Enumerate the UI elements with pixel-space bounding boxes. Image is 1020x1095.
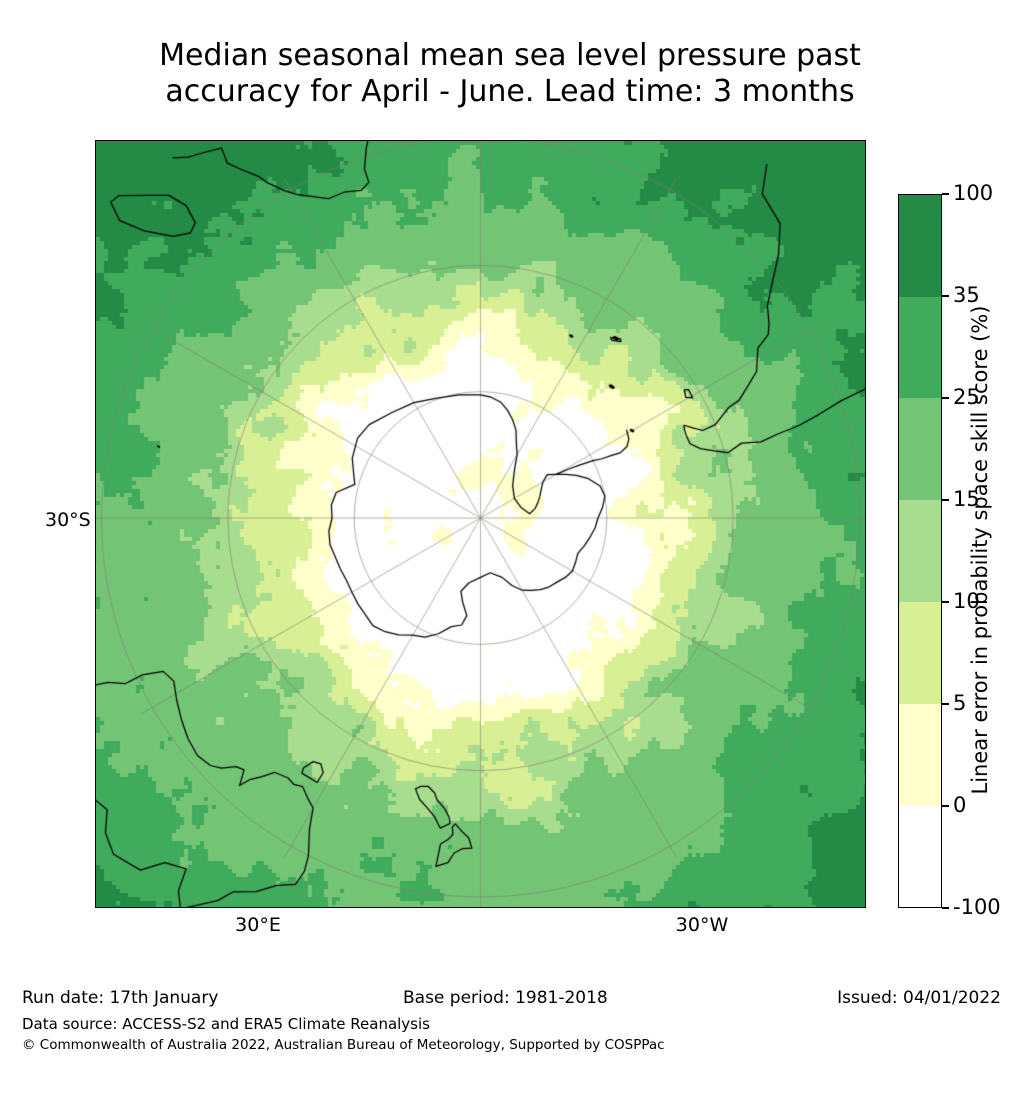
xtick-label-30e: 30°E xyxy=(213,914,303,936)
colorbar-tick-label: 5 xyxy=(953,690,966,717)
figure-root: Median seasonal mean sea level pressure … xyxy=(0,0,1020,1095)
colorbar-band xyxy=(899,297,941,399)
colorbar-band xyxy=(899,704,941,806)
footer-run-date: Run date: 17th January xyxy=(22,988,218,1008)
map-plot-area[interactable] xyxy=(95,140,866,908)
footer-issued-date: Issued: 04/01/2022 xyxy=(837,988,1001,1008)
skill-score-map-canvas[interactable] xyxy=(96,141,865,907)
colorbar-axis-label-text: Linear error in probability space skill … xyxy=(968,190,992,910)
page-title: Median seasonal mean sea level pressure … xyxy=(0,38,1020,110)
colorbar-tickmark xyxy=(942,295,949,297)
footer-copyright: © Commonwealth of Australia 2022, Austra… xyxy=(22,1037,665,1053)
colorbar-band xyxy=(899,398,941,500)
colorbar-tickmark xyxy=(942,397,949,399)
colorbar-band xyxy=(899,195,941,297)
colorbar-tickmark xyxy=(942,907,949,909)
ytick-label-30s: 30°S xyxy=(45,509,87,531)
colorbar-band xyxy=(899,805,941,907)
colorbar-tickmark xyxy=(942,601,949,603)
colorbar-tickmark xyxy=(942,193,949,195)
colorbar-band xyxy=(899,602,941,704)
xtick-label-30w: 30°W xyxy=(657,914,747,936)
colorbar: 1003525151050-100 xyxy=(898,194,942,908)
colorbar-bands xyxy=(898,194,942,908)
colorbar-band xyxy=(899,500,941,602)
footer-primary-row: Run date: 17th January Base period: 1981… xyxy=(0,988,1020,1012)
colorbar-axis-label: Linear error in probability space skill … xyxy=(968,0,1004,190)
colorbar-tickmark xyxy=(942,805,949,807)
footer-data-source: Data source: ACCESS-S2 and ERA5 Climate … xyxy=(22,1015,430,1033)
footer-base-period: Base period: 1981-2018 xyxy=(403,988,608,1008)
colorbar-tickmark xyxy=(942,703,949,705)
colorbar-tickmark xyxy=(942,499,949,501)
footer: Run date: 17th January Base period: 1981… xyxy=(0,955,1020,1075)
colorbar-tick-label: 0 xyxy=(953,792,966,819)
